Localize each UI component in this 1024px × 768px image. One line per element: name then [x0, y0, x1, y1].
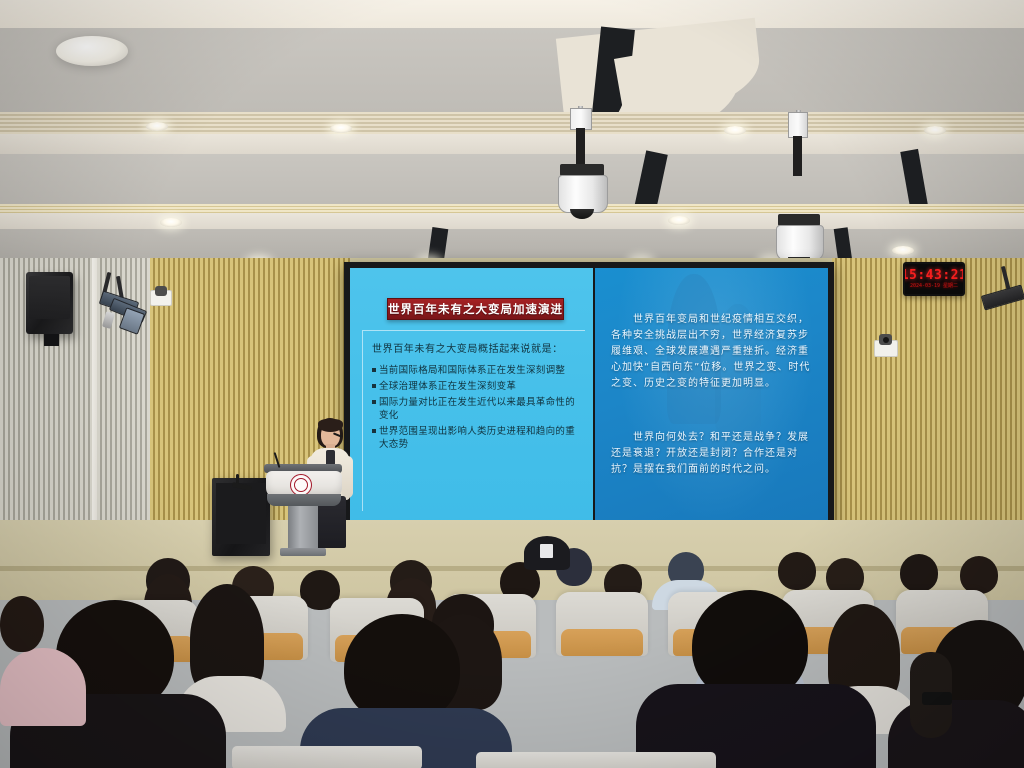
audience-head [0, 596, 44, 652]
downlight-5 [160, 218, 182, 227]
projector-1-bracket-top [570, 108, 592, 130]
audience-head [900, 554, 938, 592]
slide-right-paragraph-2: 世界向何处去？和平还是战争？发展还是衰退？开放还是封闭？合作还是对抗？是摆在我们… [611, 430, 815, 478]
list-item: 世界范围呈现出影响人类历史进程和趋向的重大态势 [372, 425, 580, 451]
seat-writing-desk [476, 752, 716, 768]
cctv-camera-right-lens [883, 337, 889, 343]
audience-head [960, 556, 998, 594]
bullet-square-icon [372, 368, 376, 372]
slide-left-lead-text: 世界百年未有之大变局概括起来说就是： [372, 340, 563, 355]
ceiling-plane-upper [0, 28, 1024, 114]
bullet-text: 当前国际格局和国际体系正在发生深刻调整 [379, 364, 565, 377]
lectern-column [288, 506, 318, 550]
audience-shoulders-front [888, 700, 1024, 768]
list-item: 当前国际格局和国际体系正在发生深刻调整 [372, 364, 580, 377]
slide-left-title: 世界百年未有之大变局加速演进 [388, 301, 563, 317]
lectern-lower-band [267, 494, 341, 506]
lectern-emblem [290, 474, 312, 496]
list-item: 全球治理体系正在发生深刻变革 [372, 380, 580, 393]
projector-2-body [776, 225, 824, 261]
bullet-square-icon [372, 429, 376, 433]
speaker-grille [29, 276, 70, 319]
wall-speaker-left [26, 272, 73, 334]
dome-ceiling-light [56, 36, 128, 66]
downlight-7 [892, 246, 914, 255]
slide-right[interactable]: 世界百年变局和世纪疫情相互交织，各种安全挑战层出不穷，世界经济复苏步履维艰、全球… [595, 268, 828, 526]
ceiling-plane-mid [0, 154, 1024, 204]
ceiling-fascia-2 [0, 213, 1024, 229]
bullet-text: 全球治理体系正在发生深刻变革 [379, 380, 516, 393]
clock-time: 15:43:21 [903, 269, 965, 282]
downlight-2 [330, 124, 352, 133]
cctv-camera-left-body [155, 286, 167, 296]
presenter-arm-right [342, 456, 353, 498]
bullet-square-icon [372, 384, 376, 388]
slide-left-title-plate: 世界百年未有之大变局加速演进 [387, 298, 564, 320]
projector-1-body [558, 175, 608, 213]
clock-date: 2024-03-19 星期二 [910, 284, 958, 289]
list-item: 国际力量对比正在发生近代以来最具革命性的变化 [372, 396, 580, 422]
projector-2-bracket-top [788, 112, 808, 138]
ceiling-fascia-1 [0, 134, 1024, 154]
ceiling-top-band [0, 0, 1024, 28]
ceiling [0, 0, 1024, 262]
projector-2-shaft [793, 136, 802, 176]
slide-left-bullet-list: 当前国际格局和国际体系正在发生深刻调整 全球治理体系正在发生深刻变革 国际力量对… [372, 364, 580, 454]
digital-wall-clock: 15:43:21 2024-03-19 星期二 [903, 262, 965, 296]
wall-speaker-mount [44, 334, 59, 346]
bullet-square-icon [372, 400, 376, 404]
audience-wristwatch [922, 692, 952, 705]
bullet-text: 国际力量对比正在发生近代以来最具革命性的变化 [379, 396, 580, 422]
lectern-base [280, 548, 326, 556]
audience-head [778, 552, 816, 590]
audience-shoulders-front [0, 648, 86, 726]
downlight-6 [668, 216, 690, 225]
cap-logo-icon [540, 544, 553, 558]
downlight-3 [724, 126, 746, 135]
seat-writing-desk [232, 746, 422, 768]
floor-subwoofer [212, 478, 270, 556]
slide-right-paragraph-1: 世界百年变局和世纪疫情相互交织，各种安全挑战层出不穷，世界经济复苏步履维艰、全球… [611, 312, 815, 392]
ceiling-slat-strip-2 [0, 204, 1024, 213]
presenter-hair-front [318, 419, 343, 432]
lecture-hall-photo: 15:43:21 2024-03-19 星期二 世界百年未有之大变局加速演进 世… [0, 0, 1024, 768]
downlight-4 [924, 126, 946, 135]
bullet-text: 世界范围呈现出影响人类历史进程和趋向的重大态势 [379, 425, 580, 451]
projector-1-shaft [576, 128, 585, 164]
subwoofer-grille [216, 483, 266, 544]
lecture-seat [556, 592, 648, 656]
lectern-emblem-inner-ring [294, 478, 308, 492]
slide-left[interactable]: 世界百年未有之大变局加速演进 世界百年未有之大变局概括起来说就是： 当前国际格局… [350, 268, 593, 526]
downlight-1 [146, 122, 168, 131]
